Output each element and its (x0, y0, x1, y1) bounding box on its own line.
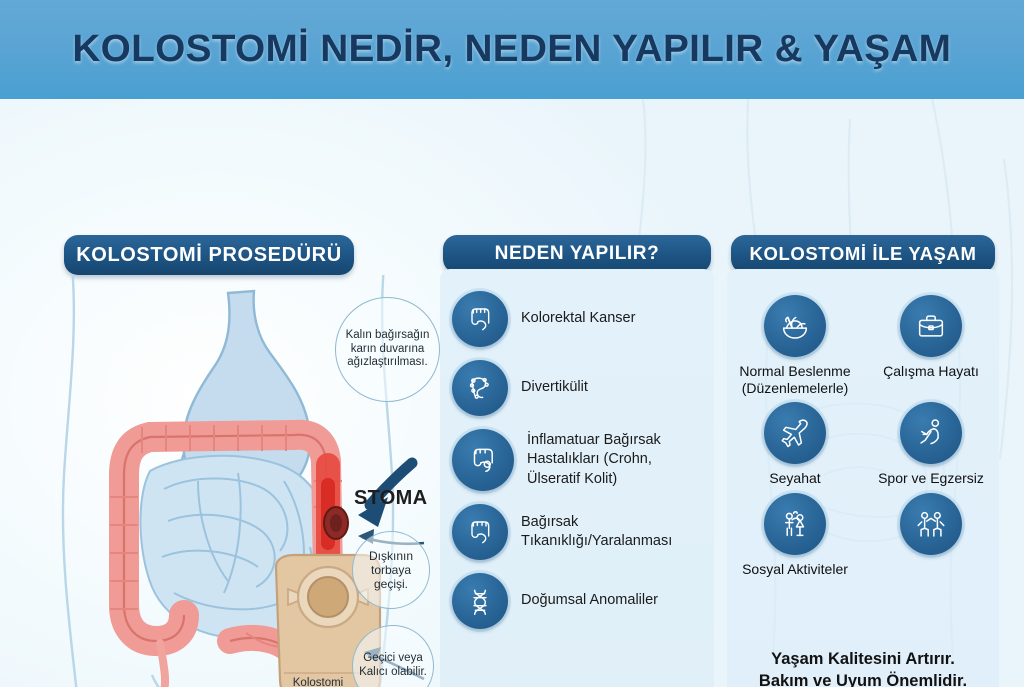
reason-label: Bağırsak Tıkanıklığı/Yaralanması (521, 513, 704, 552)
inflamed-bowel-icon (452, 429, 514, 491)
reason-label: Divertikülit (521, 378, 588, 397)
bubble-stoma-creation-text: Kalın bağırsağın karın duvarına ağızlaşt… (336, 329, 439, 370)
airplane-icon (764, 402, 826, 464)
reason-label: Doğumsal Anomaliler (521, 591, 658, 610)
reasons-header: NEDEN YAPILIR? (443, 235, 711, 273)
family-group-icon (764, 493, 826, 555)
reason-item-bowel-obstruction[interactable]: Bağırsak Tıkanıklığı/Yaralanması (452, 504, 704, 560)
living-item-social[interactable]: Sosyal Aktiviteler (727, 493, 863, 578)
stoma-label: STOMA (354, 487, 427, 510)
colostomy-bag-label: Kolostomi torbası (248, 676, 388, 687)
living-items-grid: Normal Beslenme (Düzenlemelerle) Çalışma… (727, 295, 999, 577)
living-item-label: Sosyal Aktiviteler (742, 561, 848, 578)
procedure-column: KOLOSTOMİ PROSEDÜRÜ (42, 235, 434, 687)
stoma-opening (324, 465, 348, 565)
dna-icon (452, 573, 508, 629)
infographic-page: KOLOSTOMİ NEDİR, NEDEN YAPILIR & YAŞAM (0, 0, 1024, 687)
reason-item-colorectal-cancer[interactable]: Kolorektal Kanser (452, 291, 704, 347)
living-item-support[interactable] (863, 493, 999, 578)
living-item-label: Normal Beslenme (Düzenlemelerle) (727, 363, 863, 396)
reason-label: İnflamatuar Bağırsak Hastalıkları (Crohn… (527, 431, 704, 489)
colon-icon (452, 291, 508, 347)
bubble-waste-passage: Dışkının torbaya geçişi. (352, 531, 430, 609)
salad-bowl-icon (764, 295, 826, 357)
procedure-header: KOLOSTOMİ PROSEDÜRÜ (64, 235, 354, 275)
bubble-stoma-creation: Kalın bağırsağın karın duvarına ağızlaşt… (335, 297, 440, 402)
living-item-travel[interactable]: Seyahat (727, 402, 863, 487)
living-item-nutrition[interactable]: Normal Beslenme (Düzenlemelerle) (727, 295, 863, 396)
reason-label: Kolorektal Kanser (521, 309, 635, 328)
running-person-icon (900, 402, 962, 464)
diverticulitis-icon (452, 360, 508, 416)
reason-item-ibd[interactable]: İnflamatuar Bağırsak Hastalıkları (Crohn… (452, 429, 704, 491)
closing-line-1: Yaşam Kalitesini Artırır. (727, 649, 999, 671)
two-people-support-icon (900, 493, 962, 555)
reasons-panel: Kolorektal Kanser Divertikülit (440, 269, 714, 687)
living-item-sport[interactable]: Spor ve Egzersiz (863, 402, 999, 487)
living-panel: Normal Beslenme (Düzenlemelerle) Çalışma… (727, 269, 999, 687)
closing-message: Yaşam Kalitesini Artırır. Bakım ve Uyum … (727, 649, 999, 687)
page-title: KOLOSTOMİ NEDİR, NEDEN YAPILIR & YAŞAM (73, 28, 952, 71)
reason-item-congenital-anomalies[interactable]: Doğumsal Anomaliler (452, 573, 704, 629)
briefcase-icon (900, 295, 962, 357)
living-header: KOLOSTOMİ İLE YAŞAM (731, 235, 995, 273)
reason-item-diverticulitis[interactable]: Divertikülit (452, 360, 704, 416)
living-item-label: Spor ve Egzersiz (878, 470, 984, 487)
bowel-obstruction-icon (452, 504, 508, 560)
living-item-work[interactable]: Çalışma Hayatı (863, 295, 999, 396)
closing-line-2: Bakım ve Uyum Önemlidir. (727, 671, 999, 687)
reasons-list: Kolorektal Kanser Divertikülit (452, 291, 704, 629)
living-item-label: Seyahat (769, 470, 820, 487)
living-item-label: Çalışma Hayatı (883, 363, 979, 380)
bubble-waste-passage-text: Dışkının torbaya geçişi. (353, 549, 429, 591)
title-band: KOLOSTOMİ NEDİR, NEDEN YAPILIR & YAŞAM (0, 0, 1024, 99)
content-area: KOLOSTOMİ PROSEDÜRÜ (0, 99, 1024, 687)
